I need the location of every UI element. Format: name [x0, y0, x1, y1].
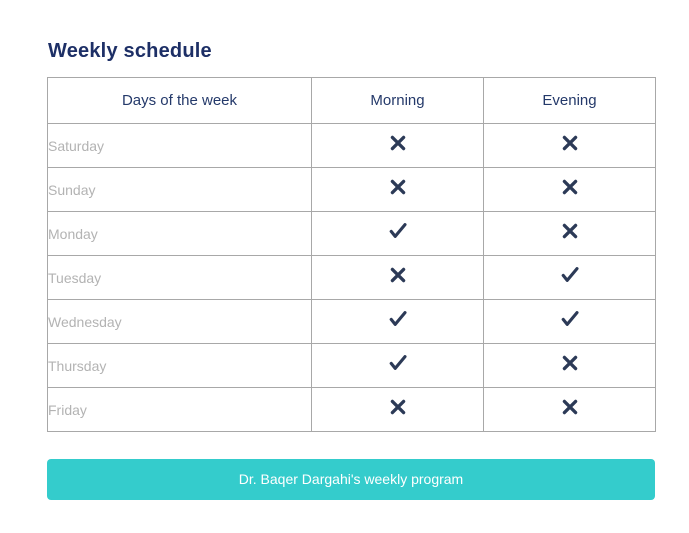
weekly-program-button[interactable]: Dr. Baqer Dargahi's weekly program	[47, 459, 655, 500]
check-icon	[388, 353, 408, 373]
day-label: Monday	[48, 212, 312, 256]
morning-availability-cell	[312, 168, 484, 212]
page-title: Weekly schedule	[48, 40, 212, 63]
morning-availability-cell	[312, 344, 484, 388]
cross-icon	[561, 398, 579, 416]
weekly-schedule-table: Days of the week Morning Evening Saturda…	[47, 77, 656, 432]
evening-availability-cell	[484, 344, 656, 388]
column-header-days: Days of the week	[48, 78, 312, 124]
table-header-row: Days of the week Morning Evening	[48, 78, 656, 124]
day-label: Tuesday	[48, 256, 312, 300]
cross-icon	[389, 266, 407, 284]
morning-availability-cell	[312, 256, 484, 300]
evening-availability-cell	[484, 168, 656, 212]
morning-availability-cell	[312, 124, 484, 168]
morning-availability-cell	[312, 388, 484, 432]
cross-icon	[561, 354, 579, 372]
check-icon	[560, 309, 580, 329]
check-icon	[388, 221, 408, 241]
evening-availability-cell	[484, 388, 656, 432]
table-row: Wednesday	[48, 300, 656, 344]
morning-availability-cell	[312, 212, 484, 256]
table-body: SaturdaySundayMondayTuesdayWednesdayThur…	[48, 124, 656, 432]
table-row: Sunday	[48, 168, 656, 212]
day-label: Thursday	[48, 344, 312, 388]
day-label: Wednesday	[48, 300, 312, 344]
table-row: Saturday	[48, 124, 656, 168]
weekly-schedule-page: Weekly schedule Days of the week Morning…	[0, 0, 689, 533]
cross-icon	[389, 178, 407, 196]
day-label: Sunday	[48, 168, 312, 212]
cross-icon	[389, 134, 407, 152]
check-icon	[388, 309, 408, 329]
column-header-morning: Morning	[312, 78, 484, 124]
table-row: Thursday	[48, 344, 656, 388]
table-header: Days of the week Morning Evening	[48, 78, 656, 124]
evening-availability-cell	[484, 300, 656, 344]
day-label: Saturday	[48, 124, 312, 168]
table-row: Tuesday	[48, 256, 656, 300]
check-icon	[560, 265, 580, 285]
table-row: Friday	[48, 388, 656, 432]
day-label: Friday	[48, 388, 312, 432]
evening-availability-cell	[484, 256, 656, 300]
column-header-evening: Evening	[484, 78, 656, 124]
cross-icon	[561, 134, 579, 152]
evening-availability-cell	[484, 212, 656, 256]
morning-availability-cell	[312, 300, 484, 344]
cross-icon	[561, 222, 579, 240]
cross-icon	[561, 178, 579, 196]
table-row: Monday	[48, 212, 656, 256]
evening-availability-cell	[484, 124, 656, 168]
cross-icon	[389, 398, 407, 416]
